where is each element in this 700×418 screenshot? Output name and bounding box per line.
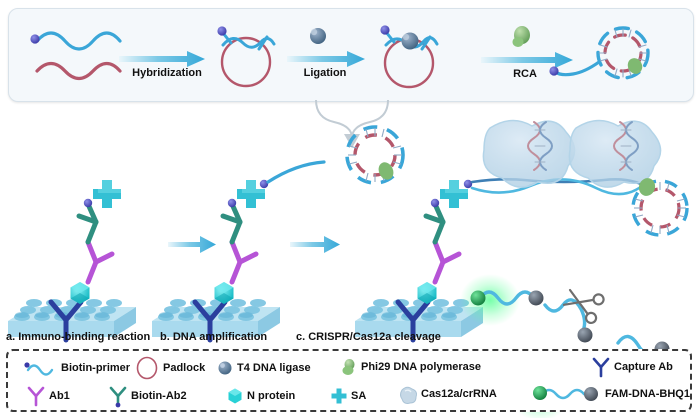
legend-item-capture-ab: Capture Ab: [591, 356, 673, 378]
arrow-b-to-c: [290, 236, 340, 253]
phi29-polymerase-glyph: [513, 26, 531, 47]
legend-item-sa: SA: [330, 387, 366, 405]
legend-label-phi29: Phi29 DNA polymerase: [361, 362, 481, 373]
legend-item-fam-dna-bhq1: FAM-DNA-BHQ1: [530, 384, 690, 404]
legend-label-t4-dna-ligase: T4 DNA ligase: [237, 363, 311, 374]
blob-blue-icon: [216, 360, 234, 376]
antibody-purple-icon: [26, 385, 46, 407]
cross-cyan-icon: [330, 387, 348, 405]
wavy-line-icon: [24, 360, 58, 376]
reporter-probe-icon: [530, 384, 602, 404]
legend-label-padlock: Padlock: [163, 363, 205, 374]
legend-item-biotin-primer: Biotin-primer: [24, 360, 130, 376]
blob-grey-icon: [398, 384, 418, 404]
t4-dna-ligase-glyph: [310, 28, 326, 44]
ligation-arrow: [287, 51, 365, 67]
section-caption-b: b. DNA amplification: [160, 331, 267, 343]
panel-a-immunobinding: [8, 180, 136, 340]
legend-item-padlock: Padlock: [134, 356, 205, 380]
cas12a-complex-2: [569, 120, 660, 187]
figure-canvas: Hybridization Ligation RCA: [0, 0, 700, 418]
legend-label-sa: SA: [351, 391, 366, 402]
legend-label-biotin-primer: Biotin-primer: [61, 363, 130, 374]
legend-item-t4-dna-ligase: T4 DNA ligase: [216, 360, 311, 376]
legend-label-ab1: Ab1: [49, 391, 70, 402]
step-label-rca: RCA: [497, 68, 553, 80]
reporter-cleaved-1: [545, 300, 593, 343]
central-rca-product-glyph: [347, 127, 403, 183]
cas12a-complex-1: [483, 120, 574, 187]
rca-arrow: [481, 52, 573, 68]
rca-product-glyph-right: [633, 176, 687, 235]
legend-label-fam-dna-bhq1: FAM-DNA-BHQ1: [605, 389, 690, 400]
circle-outline-icon: [134, 356, 160, 380]
fluorescence-glow-1: [460, 274, 520, 326]
step-label-hybridization: Hybridization: [127, 67, 207, 79]
section-caption-a: a. Immuno-binding reaction: [6, 331, 150, 343]
step-label-ligation: Ligation: [294, 67, 356, 79]
padlock-linear-glyph: [37, 64, 120, 79]
hexagon-cyan-icon: [226, 387, 244, 405]
legend-box: Biotin-primer Padlock T4 DNA ligase: [6, 349, 692, 412]
rca-scheme-graphic: [9, 9, 693, 101]
legend-label-capture-ab: Capture Ab: [614, 362, 673, 373]
rca-reaction-panel: Hybridization Ligation RCA: [8, 8, 694, 102]
legend-item-ab1: Ab1: [26, 385, 70, 407]
rca-product-glyph: [549, 28, 648, 78]
antibody-navy-icon: [591, 356, 611, 378]
legend-label-cas12a-crrna: Cas12a/crRNA: [421, 389, 497, 400]
hybridization-arrow: [119, 51, 205, 67]
hybridized-padlock-glyph: [217, 26, 274, 86]
legend-item-cas12a-crrna: Cas12a/crRNA: [398, 384, 497, 404]
legend-item-n-protein: N protein: [226, 387, 295, 405]
legend-item-phi29: Phi29 DNA polymerase: [340, 358, 481, 376]
section-caption-c: c. CRISPR/Cas12a cleavage: [296, 331, 441, 343]
blob-green-icon: [340, 358, 358, 376]
ligated-circle-glyph: [380, 25, 437, 87]
rca-primer-tail-b: [268, 162, 324, 182]
legend-label-n-protein: N protein: [247, 391, 295, 402]
arrow-a-to-b: [168, 236, 216, 253]
legend-item-biotin-ab2: Biotin-Ab2: [108, 385, 187, 407]
biotin-bead-c: [464, 180, 472, 188]
assay-workflow-graphic: [0, 100, 700, 348]
legend-label-biotin-ab2: Biotin-Ab2: [131, 391, 187, 402]
biotin-primer-glyph: [30, 33, 120, 49]
panel-b-dna-amplification: [152, 162, 324, 340]
antibody-teal-icon: [108, 385, 128, 407]
